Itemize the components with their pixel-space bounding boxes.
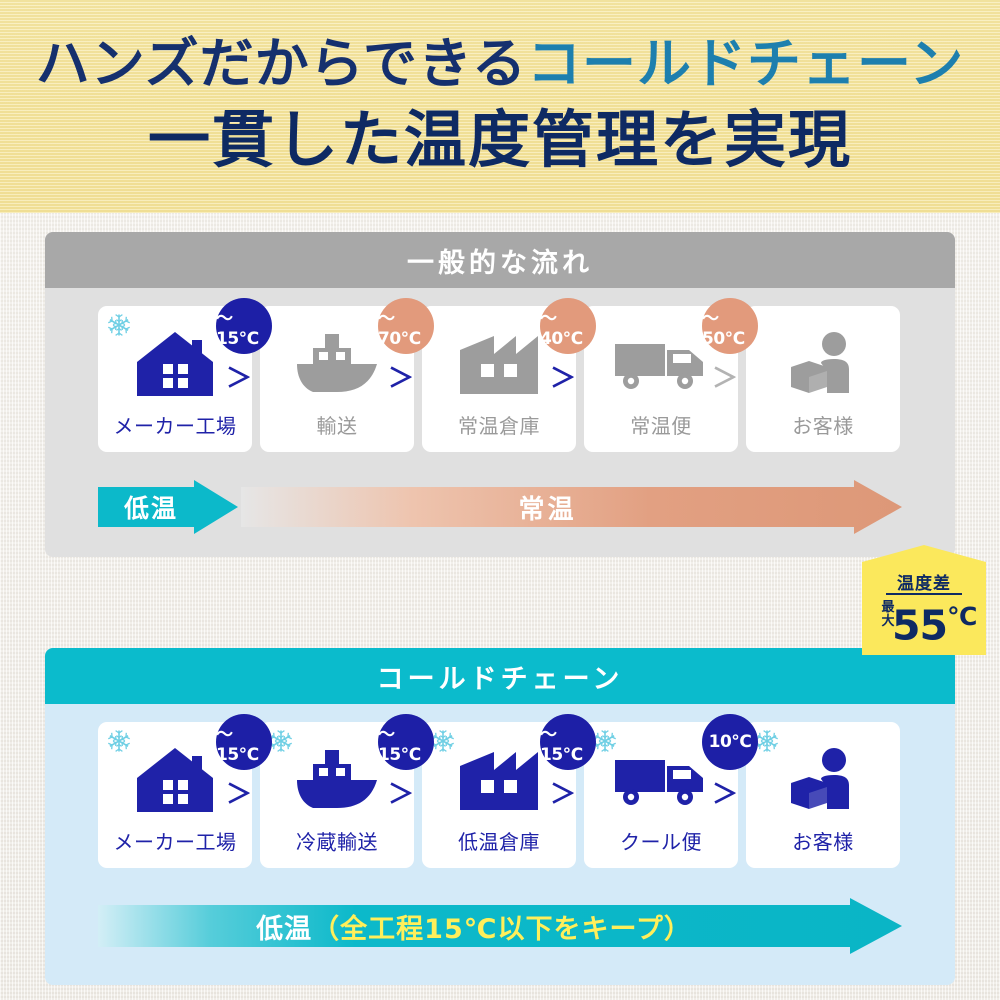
general-flow-step-row: メーカー工場～15℃＞輸送～70℃＞常温倉庫～40℃＞常温便～50℃＞お客様 — [45, 288, 955, 473]
cold-chain-panel: コールドチェーン メーカー工場～15℃＞冷蔵輸送～15℃＞低温倉庫～15℃＞クー… — [45, 648, 955, 985]
general-flow-cold-arrow: 低温 — [98, 480, 238, 534]
temp-diff-unit: ℃ — [947, 602, 976, 631]
step-chevron-icon: ＞ — [712, 780, 734, 810]
flow-step-label: 常温倉庫 — [422, 410, 576, 439]
flow-step-label: メーカー工場 — [98, 826, 252, 855]
header-title-line1: ハンズだからできるコールドチェーン — [0, 33, 1000, 93]
header-title-line1-plain: ハンズだからできる — [36, 31, 527, 95]
temperature-badge: ～15℃ — [378, 714, 434, 770]
temp-diff-number: 55 — [892, 602, 947, 650]
temperature-badge: ～50℃ — [702, 298, 758, 354]
flow-step-card[interactable]: お客様 — [746, 306, 900, 452]
temperature-badge: ～15℃ — [216, 714, 272, 770]
cold-chain-arrow: 低温（全工程15℃以下をキープ） — [98, 898, 902, 954]
flow-step-label: お客様 — [746, 410, 900, 439]
flow-step-label: お客様 — [746, 826, 900, 855]
step-chevron-icon: ＞ — [226, 364, 248, 394]
step-chevron-icon: ＞ — [226, 780, 248, 810]
temperature-badge: 10℃ — [702, 714, 758, 770]
temp-diff-value: 55℃ — [892, 595, 984, 648]
cold-chain-arrow-main: 低温 — [256, 907, 312, 946]
cold-chain-arrow-note: （全工程15℃以下をキープ） — [312, 907, 692, 946]
step-chevron-icon: ＞ — [550, 780, 572, 810]
step-chevron-icon: ＞ — [550, 364, 572, 394]
step-chevron-icon: ＞ — [388, 364, 410, 394]
temperature-badge: ～15℃ — [540, 714, 596, 770]
temperature-badge: ～40℃ — [540, 298, 596, 354]
flow-step-label: 低温倉庫 — [422, 826, 576, 855]
temp-diff-title: 温度差 — [862, 569, 986, 594]
temperature-difference-badge: 温度差 最大 55℃ — [862, 545, 986, 655]
header-title-line1-accent: コールドチェーン — [527, 31, 964, 95]
general-flow-bar: 一般的な流れ — [45, 232, 955, 288]
step-chevron-icon: ＞ — [388, 780, 410, 810]
general-flow-panel: 一般的な流れ メーカー工場～15℃＞輸送～70℃＞常温倉庫～40℃＞常温便～50… — [45, 232, 955, 557]
temperature-badge: ～15℃ — [216, 298, 272, 354]
flow-step-label: 常温便 — [584, 410, 738, 439]
flow-step-card[interactable]: お客様 — [746, 722, 900, 868]
cold-chain-bar: コールドチェーン — [45, 648, 955, 704]
customer-icon — [746, 328, 900, 400]
header-banner: ハンズだからできるコールドチェーン 一貫した温度管理を実現 — [0, 0, 1000, 213]
flow-step-label: 冷蔵輸送 — [260, 826, 414, 855]
flow-step-label: 輸送 — [260, 410, 414, 439]
flow-step-label: メーカー工場 — [98, 410, 252, 439]
customer-icon — [746, 744, 900, 816]
general-flow-warm-arrow: 常温 — [241, 480, 902, 534]
temperature-badge: ～70℃ — [378, 298, 434, 354]
flow-step-label: クール便 — [584, 826, 738, 855]
cold-chain-step-row: メーカー工場～15℃＞冷蔵輸送～15℃＞低温倉庫～15℃＞クール便10℃＞お客様 — [45, 704, 955, 889]
header-title-line2: 一貫した温度管理を実現 — [0, 105, 1000, 175]
step-chevron-icon: ＞ — [712, 364, 734, 394]
